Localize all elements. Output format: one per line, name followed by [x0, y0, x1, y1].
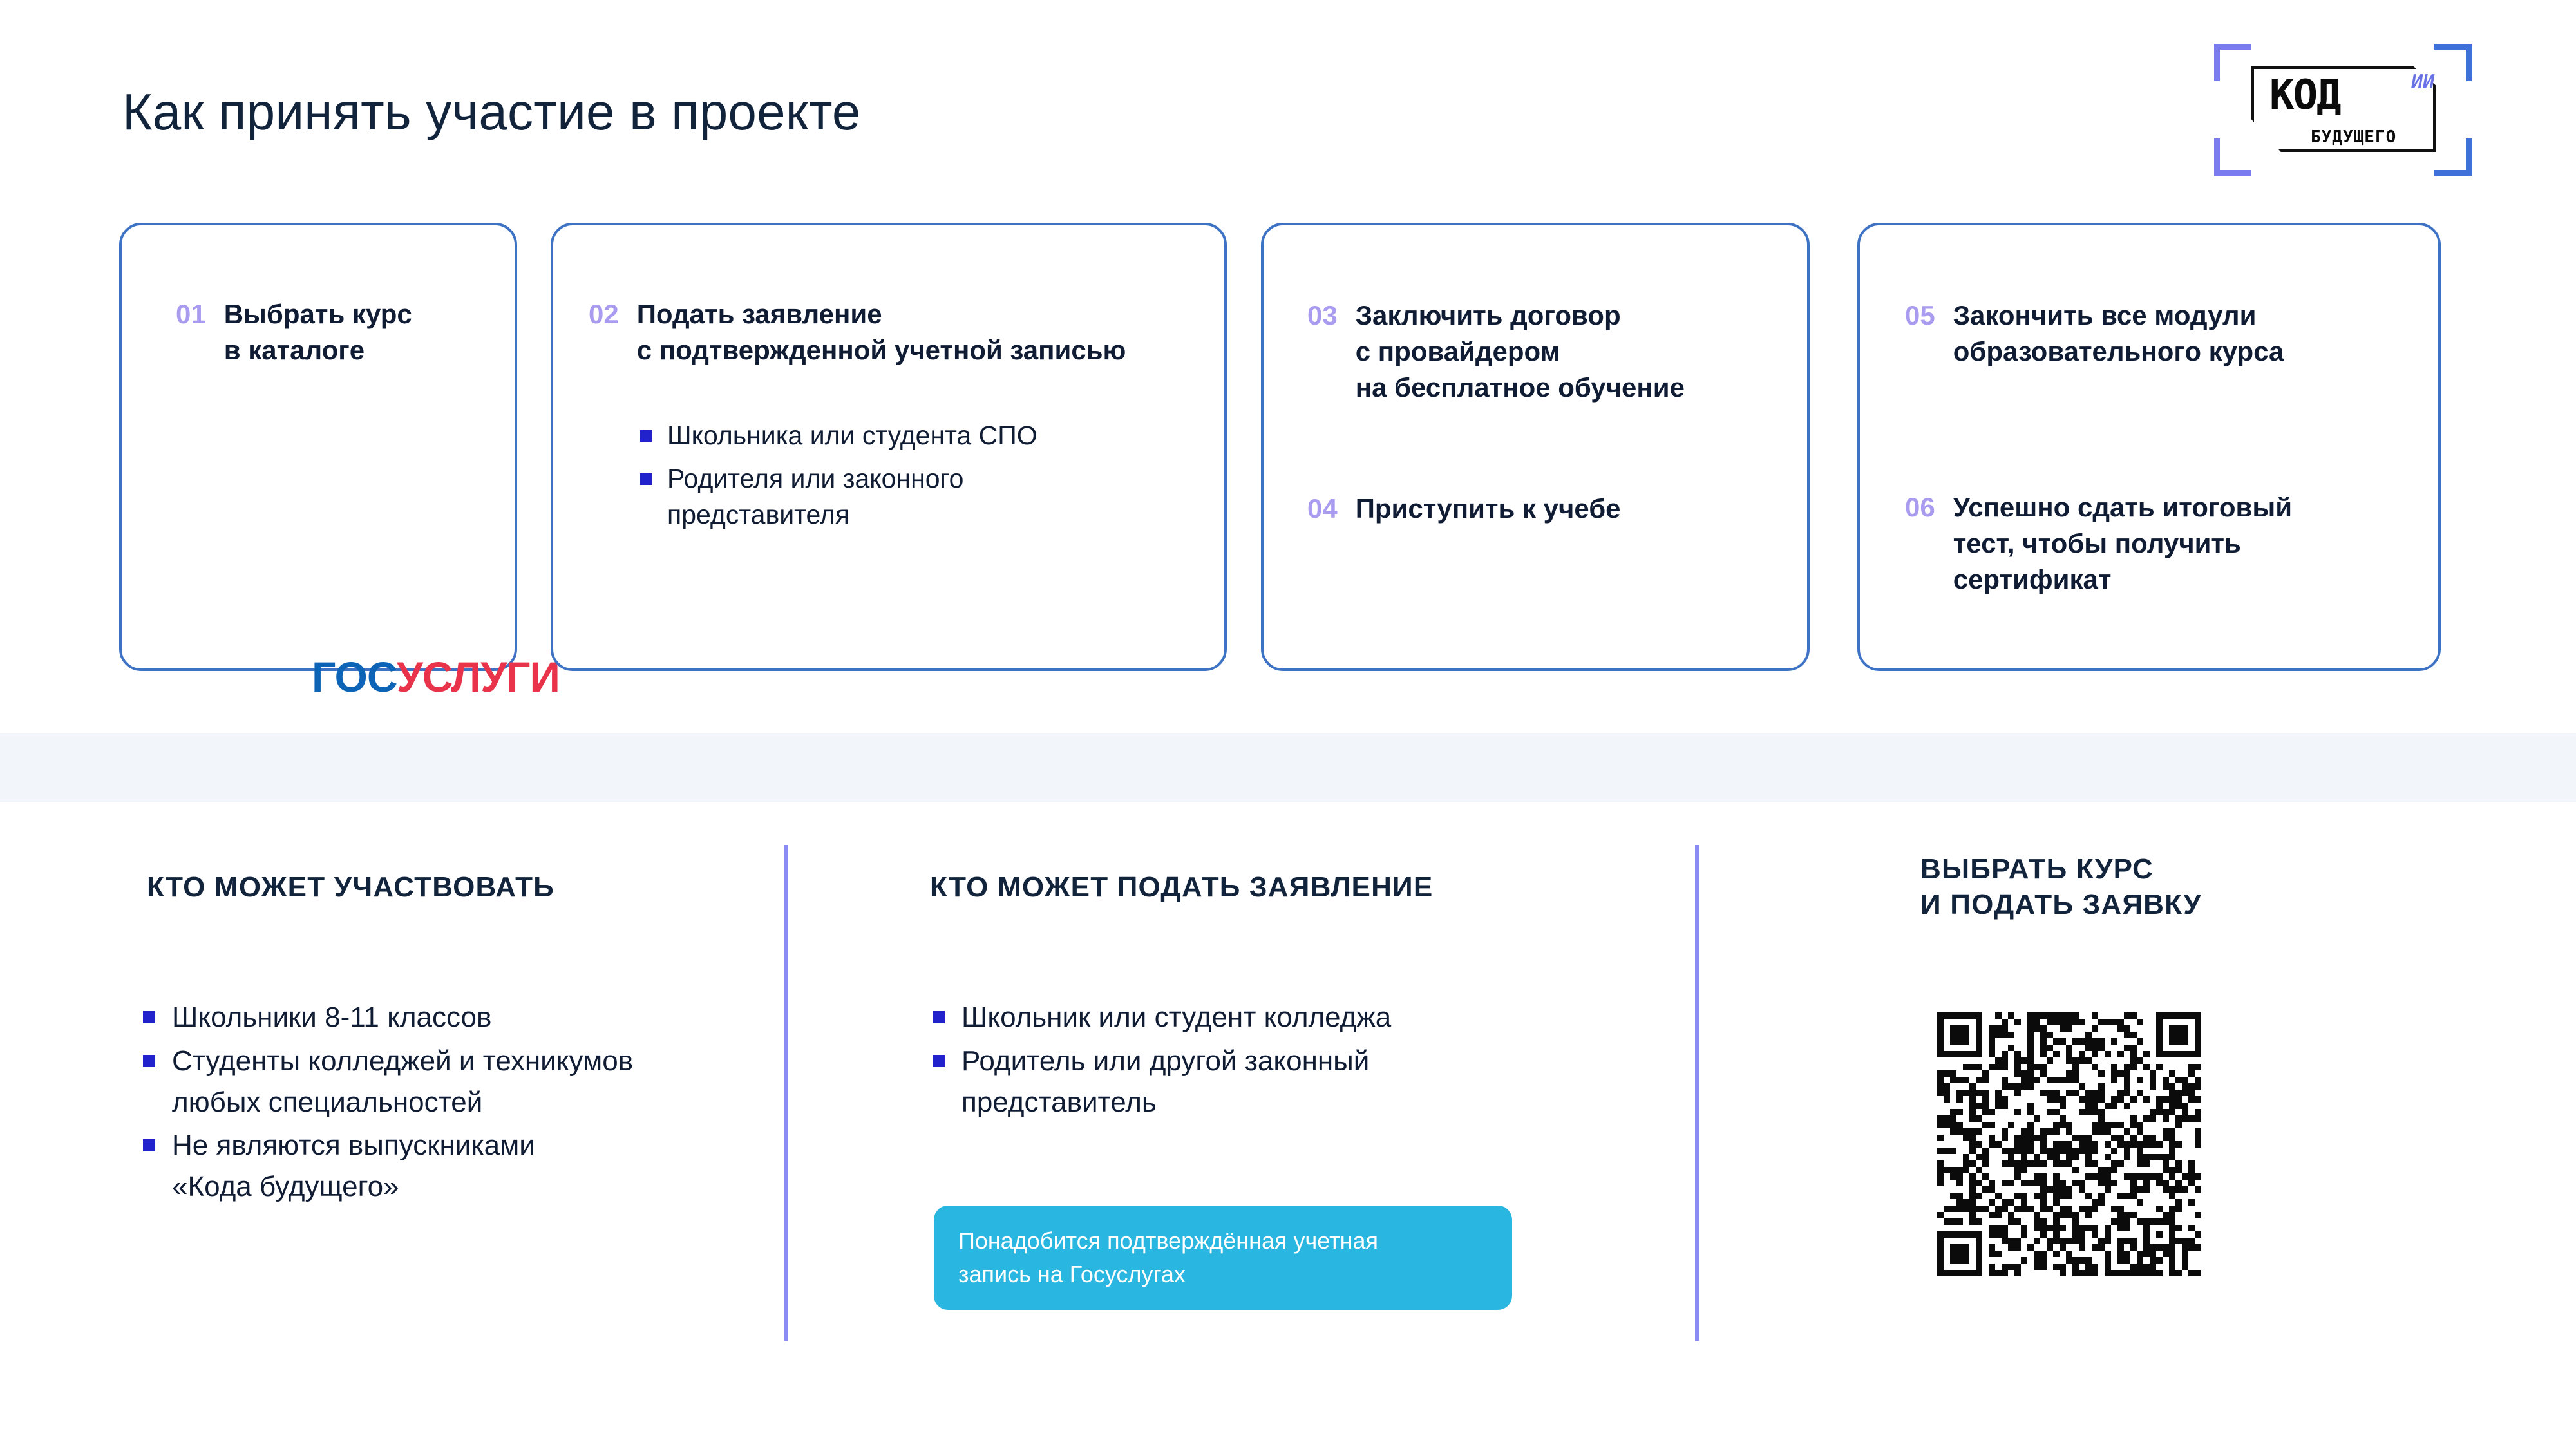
gosuslugi-account-notice: Понадобится подтверждённая учетная запис… [934, 1206, 1512, 1310]
step-04: 04 Приступить к учебе [1307, 491, 1621, 527]
step-label: Подать заявление с подтвержденной учетно… [637, 296, 1126, 368]
qr-code-canvas[interactable] [1924, 999, 2214, 1289]
page-title: Как принять участие в проекте [122, 82, 861, 142]
list-item-label: Студенты колледжей и техникумов любых сп… [172, 1041, 633, 1123]
step-number: 01 [176, 296, 206, 332]
logo-ai-badge: ИИ [2409, 71, 2436, 93]
step-number: 03 [1307, 298, 1338, 334]
bullet-square-icon [143, 1011, 155, 1023]
logo-sub-text: БУДУЩЕГО [2311, 129, 2396, 146]
list-item: Школьник или студент колледжа [933, 997, 1641, 1038]
list-item-label: Школьника или студента СПО [667, 417, 1037, 454]
bullet-square-icon [640, 430, 652, 442]
step-number: 02 [589, 296, 619, 332]
heading-who-can-apply: КТО МОЖЕТ ПОДАТЬ ЗАЯВЛЕНИЕ [930, 869, 1433, 905]
step-number: 04 [1307, 491, 1338, 527]
bullet-square-icon [143, 1055, 155, 1067]
list-item: Родитель или другой законный представите… [933, 1041, 1641, 1123]
logo-main-text: КОД [2269, 75, 2340, 116]
who-can-participate-list: Школьники 8-11 классов Студенты колледже… [143, 997, 787, 1210]
step-number: 05 [1905, 298, 1935, 334]
list-item: Родителя или законного представителя [640, 460, 1037, 533]
gosuslugi-part-1: ГОС [312, 653, 397, 701]
step-label: Закончить все модули образовательного ку… [1953, 298, 2284, 370]
step-label: Выбрать курс в каталоге [224, 296, 412, 368]
list-item-label: Школьники 8-11 классов [172, 997, 491, 1038]
qr-code[interactable] [1924, 999, 2214, 1289]
bracket-top-right-icon [2434, 44, 2472, 81]
heading-choose-course: ВЫБРАТЬ КУРС И ПОДАТЬ ЗАЯВКУ [1920, 851, 2202, 922]
step-06: 06 Успешно сдать итоговый тест, чтобы по… [1905, 489, 2292, 598]
bullet-square-icon [640, 473, 652, 485]
bullet-square-icon [143, 1139, 155, 1151]
list-item: Школьника или студента СПО [640, 417, 1037, 454]
step-card-2: 02 Подать заявление с подтвержденной уче… [551, 223, 1227, 671]
heading-who-can-participate: КТО МОЖЕТ УЧАСТВОВАТЬ [147, 869, 554, 905]
bullet-square-icon [933, 1011, 945, 1023]
step-number: 06 [1905, 489, 1935, 526]
list-item-label: Родителя или законного представителя [667, 460, 963, 533]
list-item: Не являются выпускниками «Кода будущего» [143, 1125, 787, 1207]
list-item: Школьники 8-11 классов [143, 997, 787, 1038]
step-label: Заключить договор с провайдером на беспл… [1356, 298, 1685, 406]
step-card-4: 05 Закончить все модули образовательного… [1857, 223, 2441, 671]
step-label: Приступить к учебе [1356, 491, 1621, 527]
step-05: 05 Закончить все модули образовательного… [1905, 298, 2284, 370]
list-item: Студенты колледжей и техникумов любых сп… [143, 1041, 787, 1123]
step-01: 01 Выбрать курс в каталоге [176, 296, 412, 368]
bracket-bottom-left-icon [2214, 138, 2251, 176]
gosuslugi-account-notice-text: Понадобится подтверждённая учетная запис… [934, 1224, 1403, 1291]
list-item-label: Родитель или другой законный представите… [961, 1041, 1369, 1123]
step-card-3: 03 Заключить договор с провайдером на бе… [1261, 223, 1810, 671]
gosuslugi-logo: ГОСУСЛУГИ [312, 656, 560, 698]
step-label: Успешно сдать итоговый тест, чтобы получ… [1953, 489, 2292, 598]
who-can-apply-list: Школьник или студент колледжа Родитель и… [933, 997, 1641, 1125]
card-2-bullet-list: Школьника или студента СПО Родителя или … [640, 417, 1037, 540]
list-item-label: Школьник или студент колледжа [961, 997, 1391, 1038]
column-divider-2 [1695, 845, 1699, 1341]
gosuslugi-part-2: УСЛУГИ [397, 653, 560, 701]
bracket-bottom-right-icon [2434, 138, 2472, 176]
bracket-top-left-icon [2214, 44, 2251, 81]
step-03: 03 Заключить договор с провайдером на бе… [1307, 298, 1685, 406]
bullet-square-icon [933, 1055, 945, 1067]
step-02: 02 Подать заявление с подтвержденной уче… [589, 296, 1126, 368]
step-card-1: 01 Выбрать курс в каталоге ГОСУСЛУГИ [119, 223, 517, 671]
section-divider-band [0, 733, 2576, 802]
brand-logo: КОД БУДУЩЕГО ИИ [2214, 37, 2472, 176]
slide-root: Как принять участие в проекте КОД БУДУЩЕ… [0, 0, 2576, 1449]
list-item-label: Не являются выпускниками «Кода будущего» [172, 1125, 535, 1207]
